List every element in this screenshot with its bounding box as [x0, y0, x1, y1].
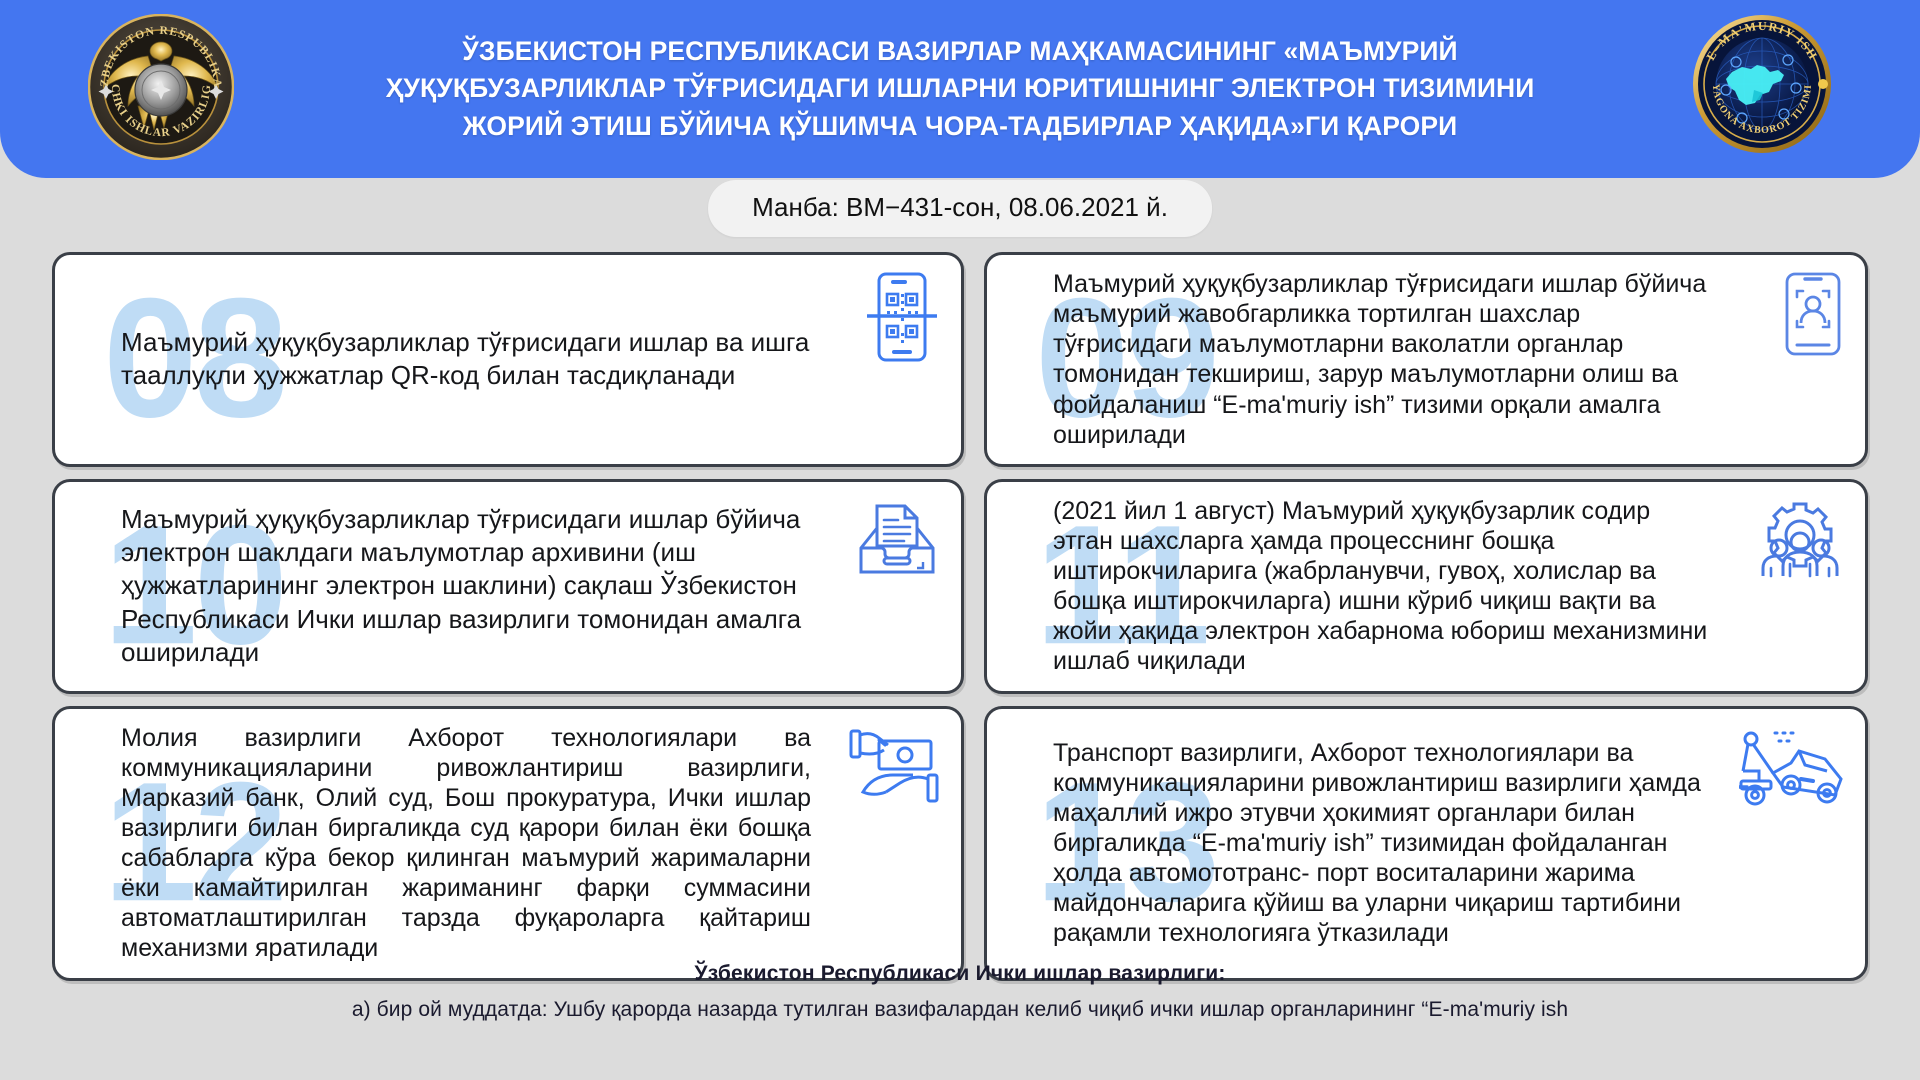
source-badge: Манба: ВМ−431-сон, 08.06.2021 й.	[708, 180, 1212, 237]
card-08[interactable]: 08	[52, 252, 964, 467]
gear-people-icon	[1757, 498, 1843, 578]
card-12[interactable]: 12 Молия вазирлиги Ахборот технологиялар…	[52, 706, 964, 981]
qr-code-phone-icon	[865, 271, 939, 363]
card-12-text: Молия вазирлиги Ахборот технологиялари в…	[55, 709, 961, 978]
card-09[interactable]: 09 Маъмурий ҳуқуқбузарликлар тўғрисидаги…	[984, 252, 1868, 467]
e-mamuriy-ish-emblem-icon: E–MA'MURIY ISH YAGONA AXBOROT TIZIMI	[1692, 14, 1832, 154]
card-13[interactable]: 13	[984, 706, 1868, 981]
card-13-text: Транспорт вазирлиги, Ахборот технологиял…	[987, 724, 1865, 963]
card-11[interactable]: 11 (2021 йил 1 август) Маъмурий ҳуқуқбу	[984, 479, 1868, 694]
card-09-text: Маъмурий ҳуқуқбузарликлар тўғрисидаги иш…	[987, 255, 1865, 464]
infographic-page: O'ZBEKISTON RESPUBLIKASI ICHKI ISHLAR VA…	[0, 0, 1920, 1080]
money-refund-hand-icon	[849, 725, 939, 813]
header-title: ЎЗБЕКИСТОН РЕСПУБЛИКАСИ ВАЗИРЛАР МАҲКАМА…	[320, 33, 1600, 146]
header-banner: O'ZBEKISTON RESPUBLIKASI ICHKI ISHLAR VA…	[0, 0, 1920, 178]
card-11-text: (2021 йил 1 август) Маъмурий ҳуқуқбузарл…	[987, 482, 1865, 691]
card-10[interactable]: 10 Маъмурий ҳуқуқбузарликлар тўғрисидаги…	[52, 479, 964, 694]
header-title-line-3: ЖОРИЙ ЭТИШ БЎЙИЧА ҚЎШИМЧА ЧОРА-ТАДБИРЛАР…	[320, 108, 1600, 146]
card-08-text: Маъмурий ҳуқуқбузарликлар тўғрисидаги иш…	[55, 312, 961, 407]
header-title-line-2: ҲУҚУҚБУЗАРЛИКЛАР ТЎҒРИСИДАГИ ИШЛАРНИ ЮРИ…	[320, 70, 1600, 108]
footer-note: а) бир ой муддатда: Ушбу қарорда назарда…	[0, 998, 1920, 1022]
mia-emblem-icon: O'ZBEKISTON RESPUBLIKASI ICHKI ISHLAR VA…	[88, 14, 234, 160]
cards-grid: 08	[52, 252, 1868, 981]
header-title-line-1: ЎЗБЕКИСТОН РЕСПУБЛИКАСИ ВАЗИРЛАР МАҲКАМА…	[320, 33, 1600, 71]
tow-truck-icon	[1739, 725, 1843, 809]
card-10-text: Маъмурий ҳуқуқбузарликлар тўғрисидаги иш…	[55, 489, 961, 684]
document-archive-icon	[855, 498, 939, 582]
id-scan-phone-icon	[1783, 271, 1843, 357]
